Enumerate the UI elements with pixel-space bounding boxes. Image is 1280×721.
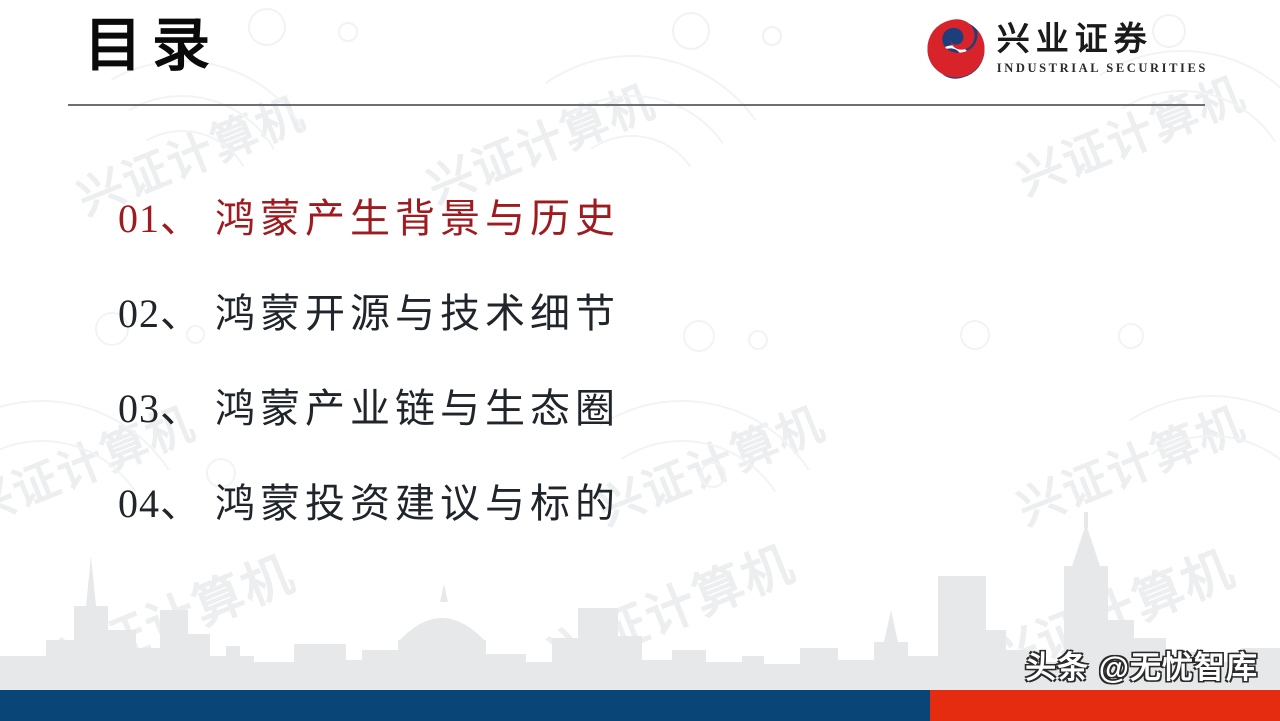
toc-item-04[interactable]: 04、 鸿蒙投资建议与标的 xyxy=(118,471,938,566)
toc-label: 鸿蒙开源与技术细节 xyxy=(215,281,620,339)
toc-number: 03、 xyxy=(118,376,201,434)
watermark-dot xyxy=(1118,323,1144,349)
watermark-ring xyxy=(338,22,358,42)
watermark-text: 兴证计算机 xyxy=(1006,387,1253,538)
toc-label: 鸿蒙产生背景与历史 xyxy=(215,186,620,244)
slide-canvas: 兴证计算机 兴证计算机 兴证计算机 兴证计算机 兴证计算机 兴证计算机 兴证计算… xyxy=(0,0,1280,721)
channel-watermark: 头条 @无忧智库 xyxy=(1025,642,1258,687)
brand-logo: 兴业证券 INDUSTRIAL SECURITIES xyxy=(925,18,1208,80)
title-divider xyxy=(68,104,1205,106)
brand-name-cn: 兴业证券 xyxy=(997,22,1153,58)
watermark-dot xyxy=(960,320,990,350)
toc-label: 鸿蒙产业链与生态圈 xyxy=(215,376,620,434)
toc-item-03[interactable]: 03、 鸿蒙产业链与生态圈 xyxy=(118,376,938,471)
brand-wordmark: 兴业证券 INDUSTRIAL SECURITIES xyxy=(997,22,1208,77)
footer-bar-left xyxy=(0,690,930,721)
watermark-ring xyxy=(762,26,782,46)
footer-bar-right xyxy=(930,690,1280,721)
toc-label: 鸿蒙投资建议与标的 xyxy=(215,471,620,529)
toc-number: 02、 xyxy=(118,281,201,339)
toc-item-02[interactable]: 02、 鸿蒙开源与技术细节 xyxy=(118,281,938,376)
toc-number: 04、 xyxy=(118,471,201,529)
footer-bar xyxy=(0,690,1280,721)
watermark-ring xyxy=(672,12,710,50)
watermark-arc xyxy=(1079,414,1280,680)
table-of-contents: 01、 鸿蒙产生背景与历史 02、 鸿蒙开源与技术细节 03、 鸿蒙产业链与生态… xyxy=(118,186,938,566)
watermark-arc xyxy=(1049,69,1280,335)
watermark-text: 兴证计算机 xyxy=(1006,57,1253,208)
company-logo-icon xyxy=(925,18,987,80)
brand-name-en: INDUSTRIAL SECURITIES xyxy=(997,60,1208,76)
toc-item-01[interactable]: 01、 鸿蒙产生背景与历史 xyxy=(118,186,938,281)
toc-number: 01、 xyxy=(118,186,201,244)
watermark-ring xyxy=(248,8,286,46)
page-title: 目录 xyxy=(84,10,220,83)
